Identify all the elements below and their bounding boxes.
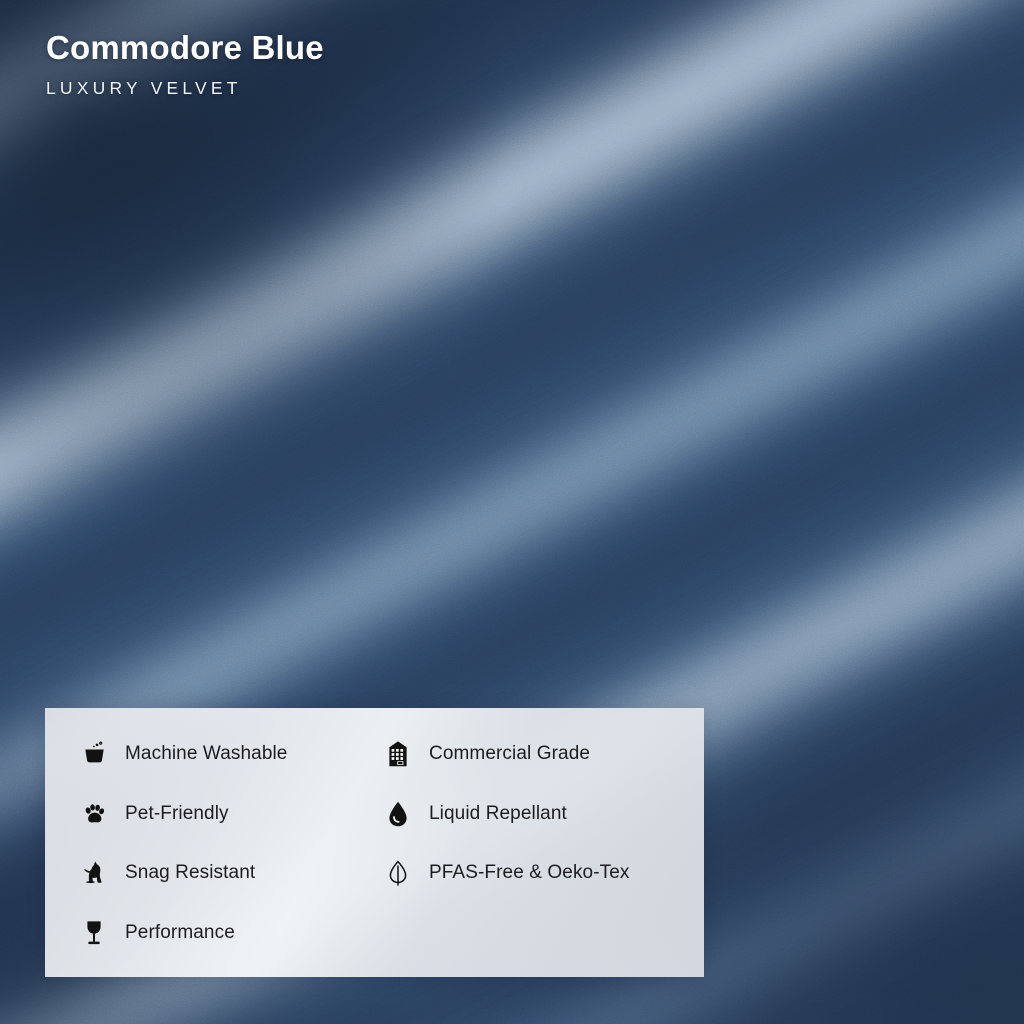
feature-item-snag-resistant[interactable]: Snag Resistant: [45, 844, 350, 904]
feature-slot-empty: [350, 903, 704, 963]
feature-item-commercial-grade[interactable]: Commercial Grade: [350, 724, 704, 784]
feature-label: PFAS-Free & Oeko-Tex: [429, 862, 630, 884]
feature-label: Machine Washable: [125, 743, 287, 765]
paw-print-icon: [79, 799, 109, 829]
product-header: Commodore Blue LUXURY VELVET: [46, 30, 324, 99]
water-drop-icon: [383, 799, 413, 829]
feature-panel: Machine Washable: [45, 708, 704, 977]
feature-label: Liquid Repellant: [429, 803, 567, 825]
feature-item-performance[interactable]: Performance: [45, 903, 350, 963]
feature-label: Commercial Grade: [429, 743, 590, 765]
feature-label: Performance: [125, 922, 235, 944]
cat-icon: [79, 858, 109, 888]
product-subtitle: LUXURY VELVET: [46, 78, 324, 99]
feature-item-liquid-repellant[interactable]: Liquid Repellant: [350, 784, 704, 844]
product-swatch-card: Commodore Blue LUXURY VELVET Machine Was…: [0, 0, 1024, 1024]
feature-label: Snag Resistant: [125, 862, 255, 884]
feature-label: Pet-Friendly: [125, 803, 229, 825]
leaf-icon: [383, 858, 413, 888]
feature-item-machine-washable[interactable]: Machine Washable: [45, 724, 350, 784]
feature-item-pet-friendly[interactable]: Pet-Friendly: [45, 784, 350, 844]
page-title: Commodore Blue: [46, 30, 324, 67]
wash-tub-icon: [79, 739, 109, 769]
wine-glass-icon: [79, 918, 109, 948]
feature-item-pfas-free-oeko-tex[interactable]: PFAS-Free & Oeko-Tex: [350, 844, 704, 904]
building-icon: [383, 739, 413, 769]
feature-grid: Machine Washable: [45, 708, 704, 977]
